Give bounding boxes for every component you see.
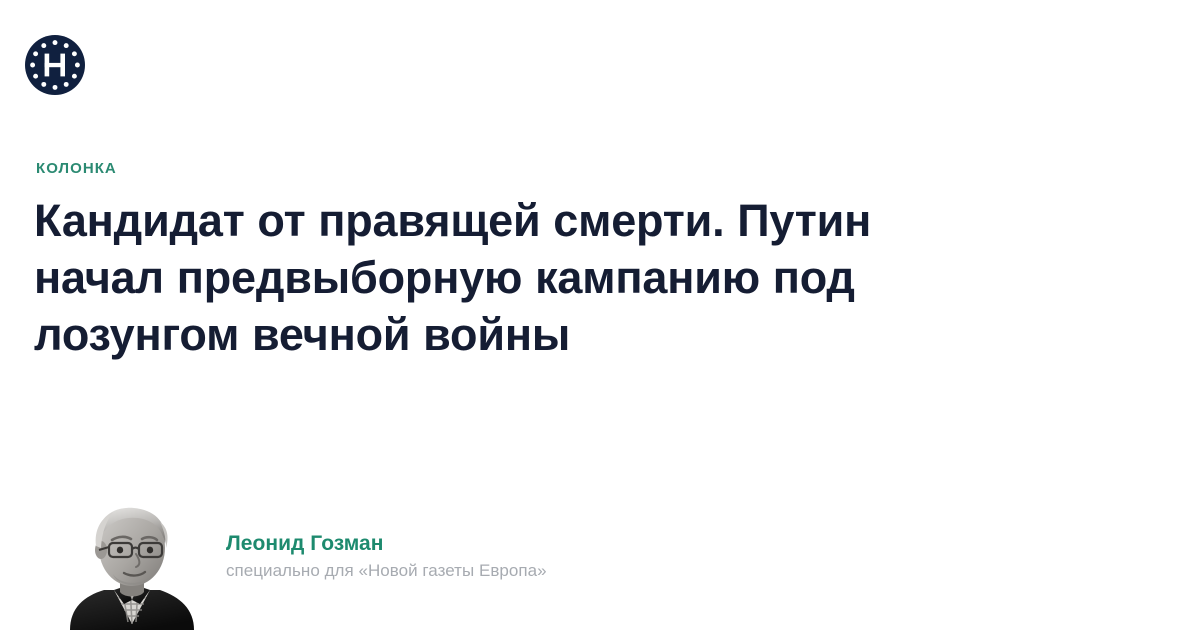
author-name[interactable]: Леонид Гозман [226, 531, 547, 557]
novaya-gazeta-europe-logo-icon [24, 34, 86, 96]
author-portrait-photo [68, 500, 196, 630]
site-logo[interactable] [24, 34, 86, 96]
headline-line-2: начал предвыборную кампанию под [34, 249, 1064, 306]
author-byline: Леонид Гозман специально для «Новой газе… [68, 500, 1068, 630]
share-card: КОЛОНКА Кандидат от правящей смерти. Пут… [0, 0, 1200, 630]
article-kicker[interactable]: КОЛОНКА [36, 161, 117, 178]
headline-line-3: лозунгом вечной войны [34, 306, 1064, 363]
headline-line-1: Кандидат от правящей смерти. Путин [34, 192, 1064, 249]
author-text-block: Леонид Гозман специально для «Новой газе… [226, 531, 547, 582]
avatar [68, 500, 196, 630]
page-title: Кандидат от правящей смерти. Путин начал… [34, 192, 1064, 363]
author-note: специально для «Новой газеты Европа» [226, 560, 547, 582]
